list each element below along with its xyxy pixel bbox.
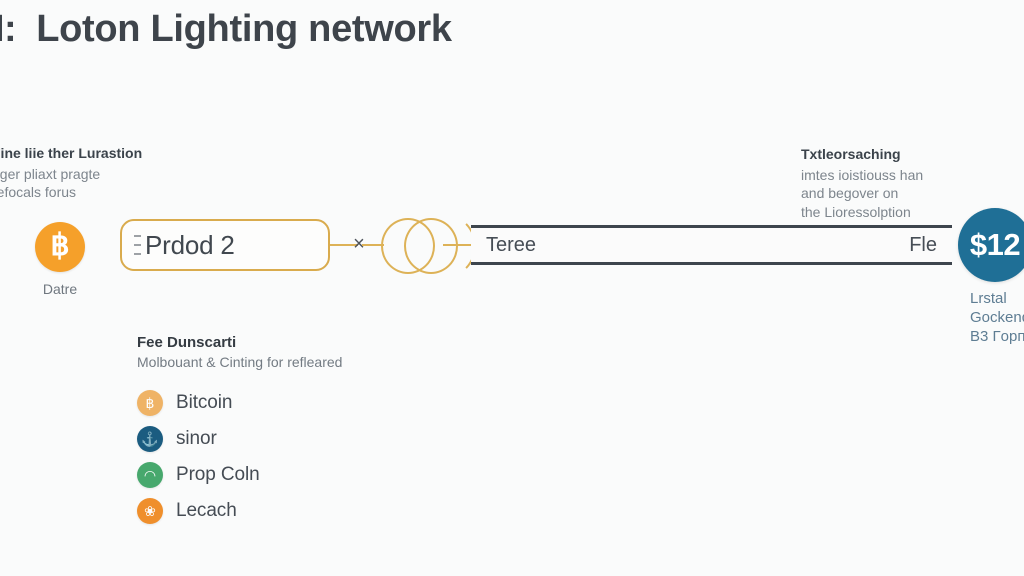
title-text: Loton Lighting network: [36, 8, 452, 51]
list-item[interactable]: ◠ Prop Coln: [137, 457, 342, 493]
annotation-left-line-1: nger pliaxt pragte: [0, 165, 142, 184]
bitcoin-icon: ฿: [35, 222, 85, 272]
source-node-label: Datre: [35, 281, 85, 297]
annotation-right-line-3: the Lioressolption: [801, 203, 923, 222]
list-item[interactable]: ฿ Bitcoin: [137, 385, 342, 421]
annotation-left-line-2: refocals forus: [0, 183, 142, 202]
channel-bar[interactable]: Teree Fle: [471, 225, 952, 265]
legend-item-label: Bitcoin: [176, 392, 232, 414]
annotation-right-heading: Txtleorsaching: [801, 145, 923, 164]
annotation-left: Fine liie ther Lurastion nger pliaxt pra…: [0, 144, 142, 202]
legend-heading: Fee Dunscarti: [137, 334, 342, 351]
anchor-icon: ⚓: [137, 426, 163, 452]
node-arc: [414, 214, 476, 278]
arch-glyph: ◠: [144, 468, 156, 482]
source-node[interactable]: ฿ Datre: [35, 222, 85, 297]
arch-icon: ◠: [137, 462, 163, 488]
legend-subheading: Molbouant & Cinting for refleared: [137, 354, 342, 370]
legend-list: ฿ Bitcoin ⚓ sinor ◠ Prop Coln ❀ Lecach: [137, 385, 342, 529]
amount-badge[interactable]: $12 Lrstal Gockend B3 Гopпї: [958, 208, 1024, 347]
page-title: I: Loton Lighting network: [0, 8, 452, 51]
annotation-right-line-1: imtes ioistiouss han: [801, 166, 923, 185]
product-box-label: Prdod 2: [145, 230, 235, 261]
channel-bar-right-label: Fle: [909, 234, 937, 257]
leaf-glyph: ❀: [144, 504, 156, 518]
legend-item-label: Prop Coln: [176, 464, 260, 486]
badge-caption-line-1: Lrstal: [970, 289, 1024, 308]
leaf-icon: ❀: [137, 498, 163, 524]
tick-marks-icon: [134, 235, 141, 255]
title-prefix: I:: [0, 8, 16, 51]
badge-caption-line-3: B3 Гopпї: [970, 327, 1024, 346]
anchor-glyph: ⚓: [141, 432, 158, 446]
list-item[interactable]: ⚓ sinor: [137, 421, 342, 457]
bitcoin-glyph: ฿: [50, 231, 69, 261]
bitcoin-glyph: ฿: [146, 396, 155, 410]
connector-segment-right: [443, 244, 471, 246]
annotation-right: Txtleorsaching imtes ioistiouss han and …: [801, 145, 923, 221]
badge-circle: $12: [958, 208, 1024, 282]
annotation-right-line-2: and begover on: [801, 184, 923, 203]
badge-caption: Lrstal Gockend B3 Гopпї: [958, 289, 1024, 347]
badge-caption-line-2: Gockend: [970, 308, 1024, 327]
slide-canvas: I: Loton Lighting network Fine liie ther…: [0, 0, 1024, 576]
badge-amount: $12: [970, 227, 1020, 263]
channel-bar-left-label: Teree: [486, 234, 536, 257]
bitcoin-icon: ฿: [137, 390, 163, 416]
legend: Fee Dunscarti Molbouant & Cinting for re…: [137, 334, 342, 529]
annotation-left-heading: Fine liie ther Lurastion: [0, 144, 142, 163]
product-box[interactable]: Prdod 2: [120, 219, 330, 271]
list-item[interactable]: ❀ Lecach: [137, 493, 342, 529]
legend-item-label: sinor: [176, 428, 217, 450]
legend-item-label: Lecach: [176, 500, 237, 522]
